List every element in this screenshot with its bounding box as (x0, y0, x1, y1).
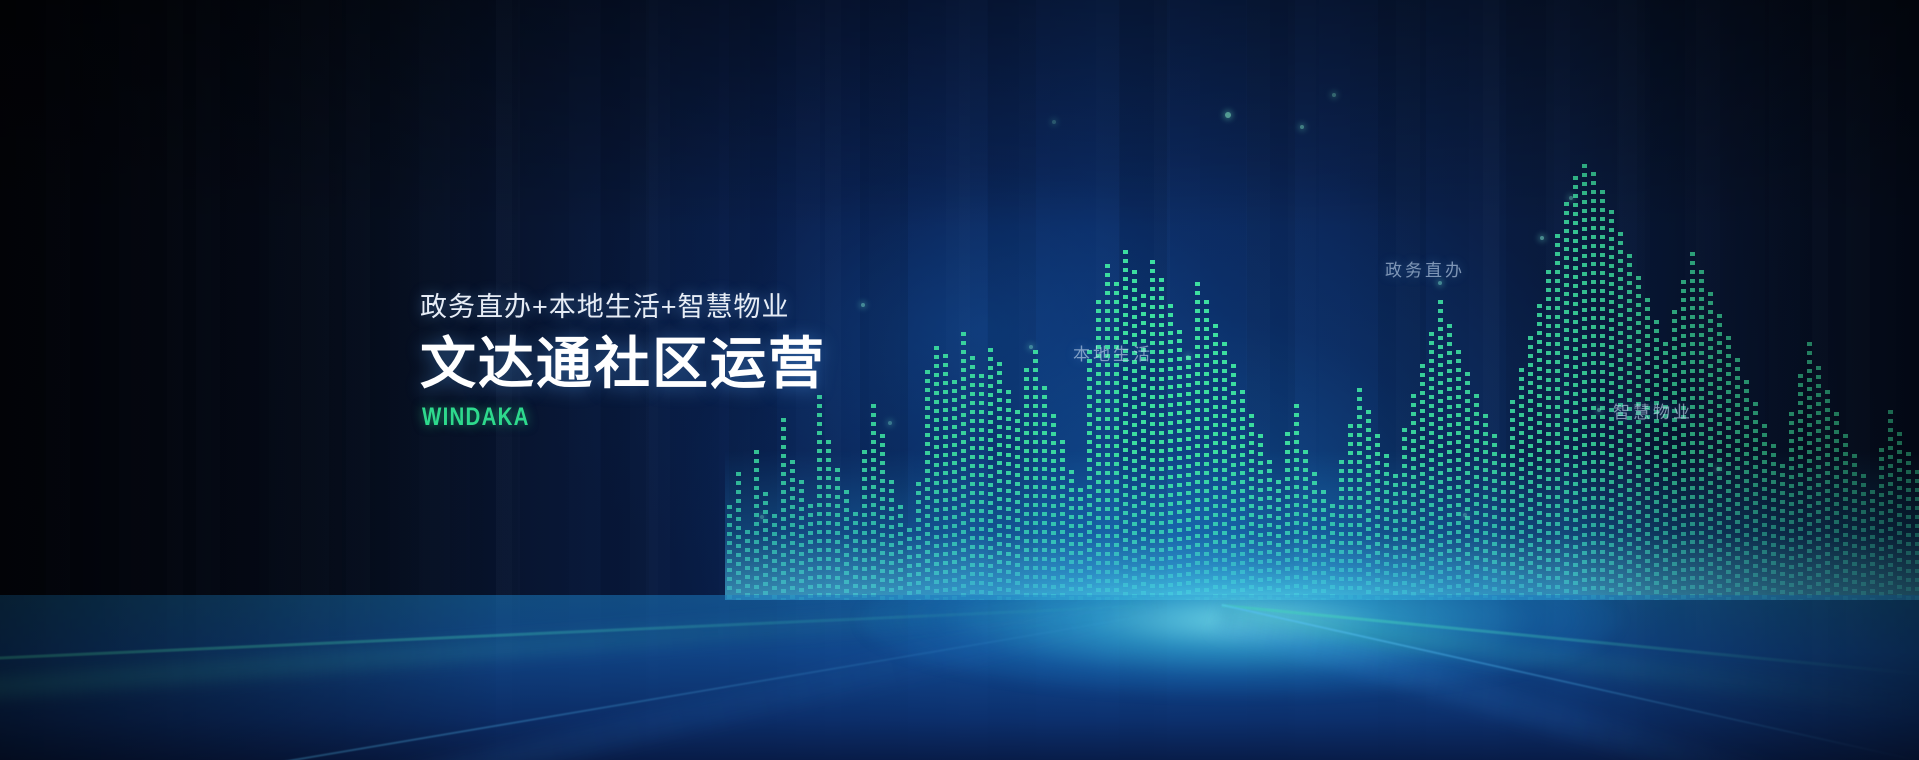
section-label-smart-property: 智慧物业 (1613, 398, 1693, 423)
section-label-government: 政务直办 (1385, 256, 1465, 281)
headline-block: 政务直办+本地生活+智慧物业 文达通社区运营 WINDAKA (420, 292, 940, 432)
brand-wordmark: WINDAKA (422, 403, 847, 432)
hero-banner: 政务直办 本地生活 智慧物业 政务直办+本地生活+智慧物业 文达通社区运营 WI… (0, 0, 1919, 760)
banner-subtitle: 政务直办+本地生活+智慧物业 (420, 292, 940, 323)
section-label-local-life: 本地生活 (1073, 340, 1153, 365)
banner-title: 文达通社区运营 (420, 333, 940, 395)
vignette-overlay (0, 0, 1919, 760)
